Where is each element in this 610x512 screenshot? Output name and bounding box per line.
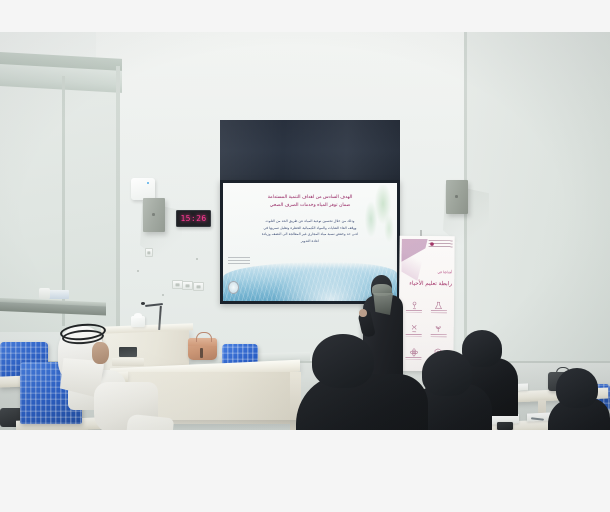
power-socket[interactable] — [145, 248, 153, 257]
audience-head — [312, 334, 374, 388]
banner-icon-caption — [406, 310, 423, 313]
audience-member-far-right — [548, 368, 610, 430]
audience-head — [556, 368, 598, 408]
screenshot-root: الهدف السادس من اهداف التنمية المستدامة … — [0, 0, 610, 512]
banner-icon-caption — [430, 310, 447, 313]
alcove-jamb — [62, 76, 65, 326]
power-socket[interactable] — [193, 282, 204, 291]
slide-body-line-4: اعادة التدوير — [235, 238, 385, 244]
flask-icon — [434, 301, 443, 310]
slide-body: وذلك من خلال تحسين نوعية المياه عن طريق … — [235, 218, 385, 244]
banner-icon-cell — [427, 295, 451, 318]
tissue-sheet — [134, 313, 142, 318]
slide-logo-text — [228, 257, 250, 266]
thobe-leg — [124, 414, 174, 430]
wall-speaker-right-screw — [455, 195, 458, 198]
wall-speaker-left-screw — [152, 213, 155, 216]
wifi-status-led-icon — [147, 182, 149, 184]
handbag-strap — [196, 332, 212, 342]
wall-mark — [162, 294, 164, 296]
photo-caption — [0, 0, 1, 1]
audience-head — [422, 350, 472, 396]
wall-mark — [196, 258, 198, 260]
plant-icon — [434, 324, 443, 333]
slide-title-line-1: الهدف السادس من اهداف التنمية المستدامة — [233, 194, 386, 202]
wifi-access-point — [131, 178, 155, 200]
seated-man-face — [92, 342, 109, 364]
microscope-icon — [410, 300, 419, 309]
handbag-clasp — [200, 348, 203, 358]
banner-heading: أهدافنا في — [402, 269, 453, 274]
wall-mark — [137, 270, 139, 272]
presenter-hand — [359, 309, 367, 317]
clock-time-display: 15:26 — [180, 215, 206, 223]
alcove-right-edge — [116, 66, 120, 334]
power-socket[interactable] — [182, 281, 193, 290]
digital-wall-clock: 15:26 — [176, 210, 211, 227]
dna-icon — [409, 324, 418, 333]
slide-title: الهدف السادس من اهداف التنمية المستدامة … — [233, 194, 386, 210]
audience-member-front-left — [296, 334, 428, 430]
projection-screen-shroud — [220, 120, 400, 182]
banner-icon-caption — [430, 334, 447, 337]
banner-title: رابطة تعليم الأحياء — [401, 280, 452, 287]
marker-box — [49, 290, 69, 299]
smartphone-on-desk[interactable] — [497, 422, 513, 430]
whiteboard-eraser — [39, 288, 50, 299]
microphone-head-icon — [141, 302, 145, 305]
classroom-photograph: الهدف السادس من اهداف التنمية المستدامة … — [0, 32, 610, 430]
banner-logo — [429, 240, 453, 248]
seated-man-thobe — [40, 320, 172, 430]
slide-title-line-2: ضمان توفر المياه وخدمات الصرف الصحي — [233, 202, 386, 210]
banner-icon-cell — [427, 319, 451, 342]
